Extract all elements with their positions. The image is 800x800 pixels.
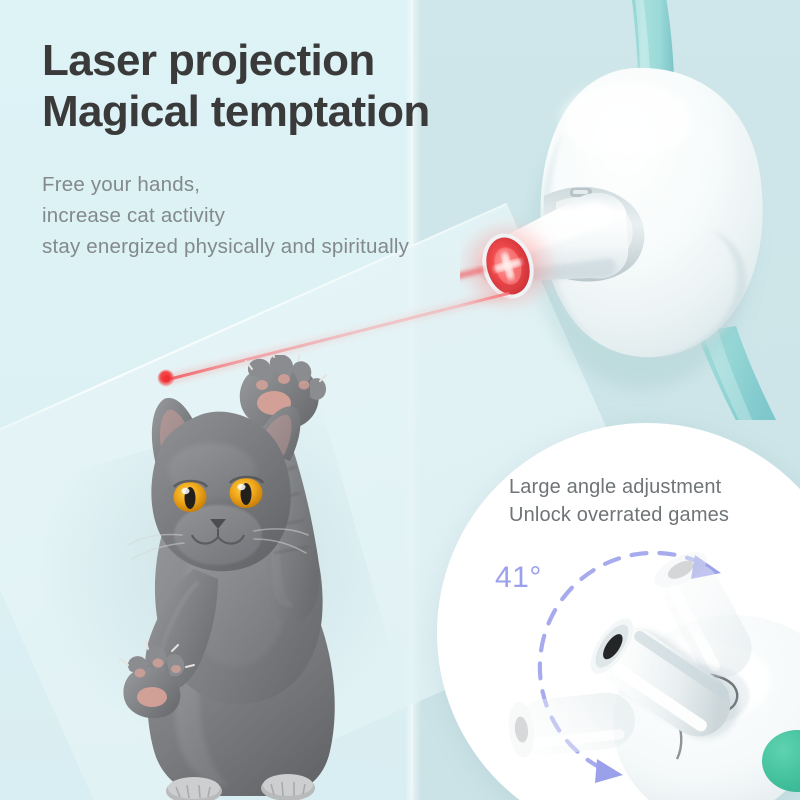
subheadline-line-2: increase cat activity — [42, 201, 512, 232]
device-arm-upper — [624, 0, 674, 76]
subheadline-line-1: Free your hands, — [42, 170, 512, 201]
cat-illustration — [60, 355, 390, 800]
subheadline: Free your hands, increase cat activity s… — [42, 170, 512, 262]
nozzle-rotation-diagram — [437, 423, 800, 800]
product-promo-image: Laser projection Magical temptation Free… — [0, 0, 800, 800]
angle-adjustment-inset: Large angle adjustment Unlock overrated … — [437, 423, 800, 800]
arc-arrow-bottom-icon — [595, 759, 623, 783]
subheadline-line-3: stay energized physically and spirituall… — [42, 232, 512, 263]
laser-toy-device-illustration — [460, 0, 800, 420]
